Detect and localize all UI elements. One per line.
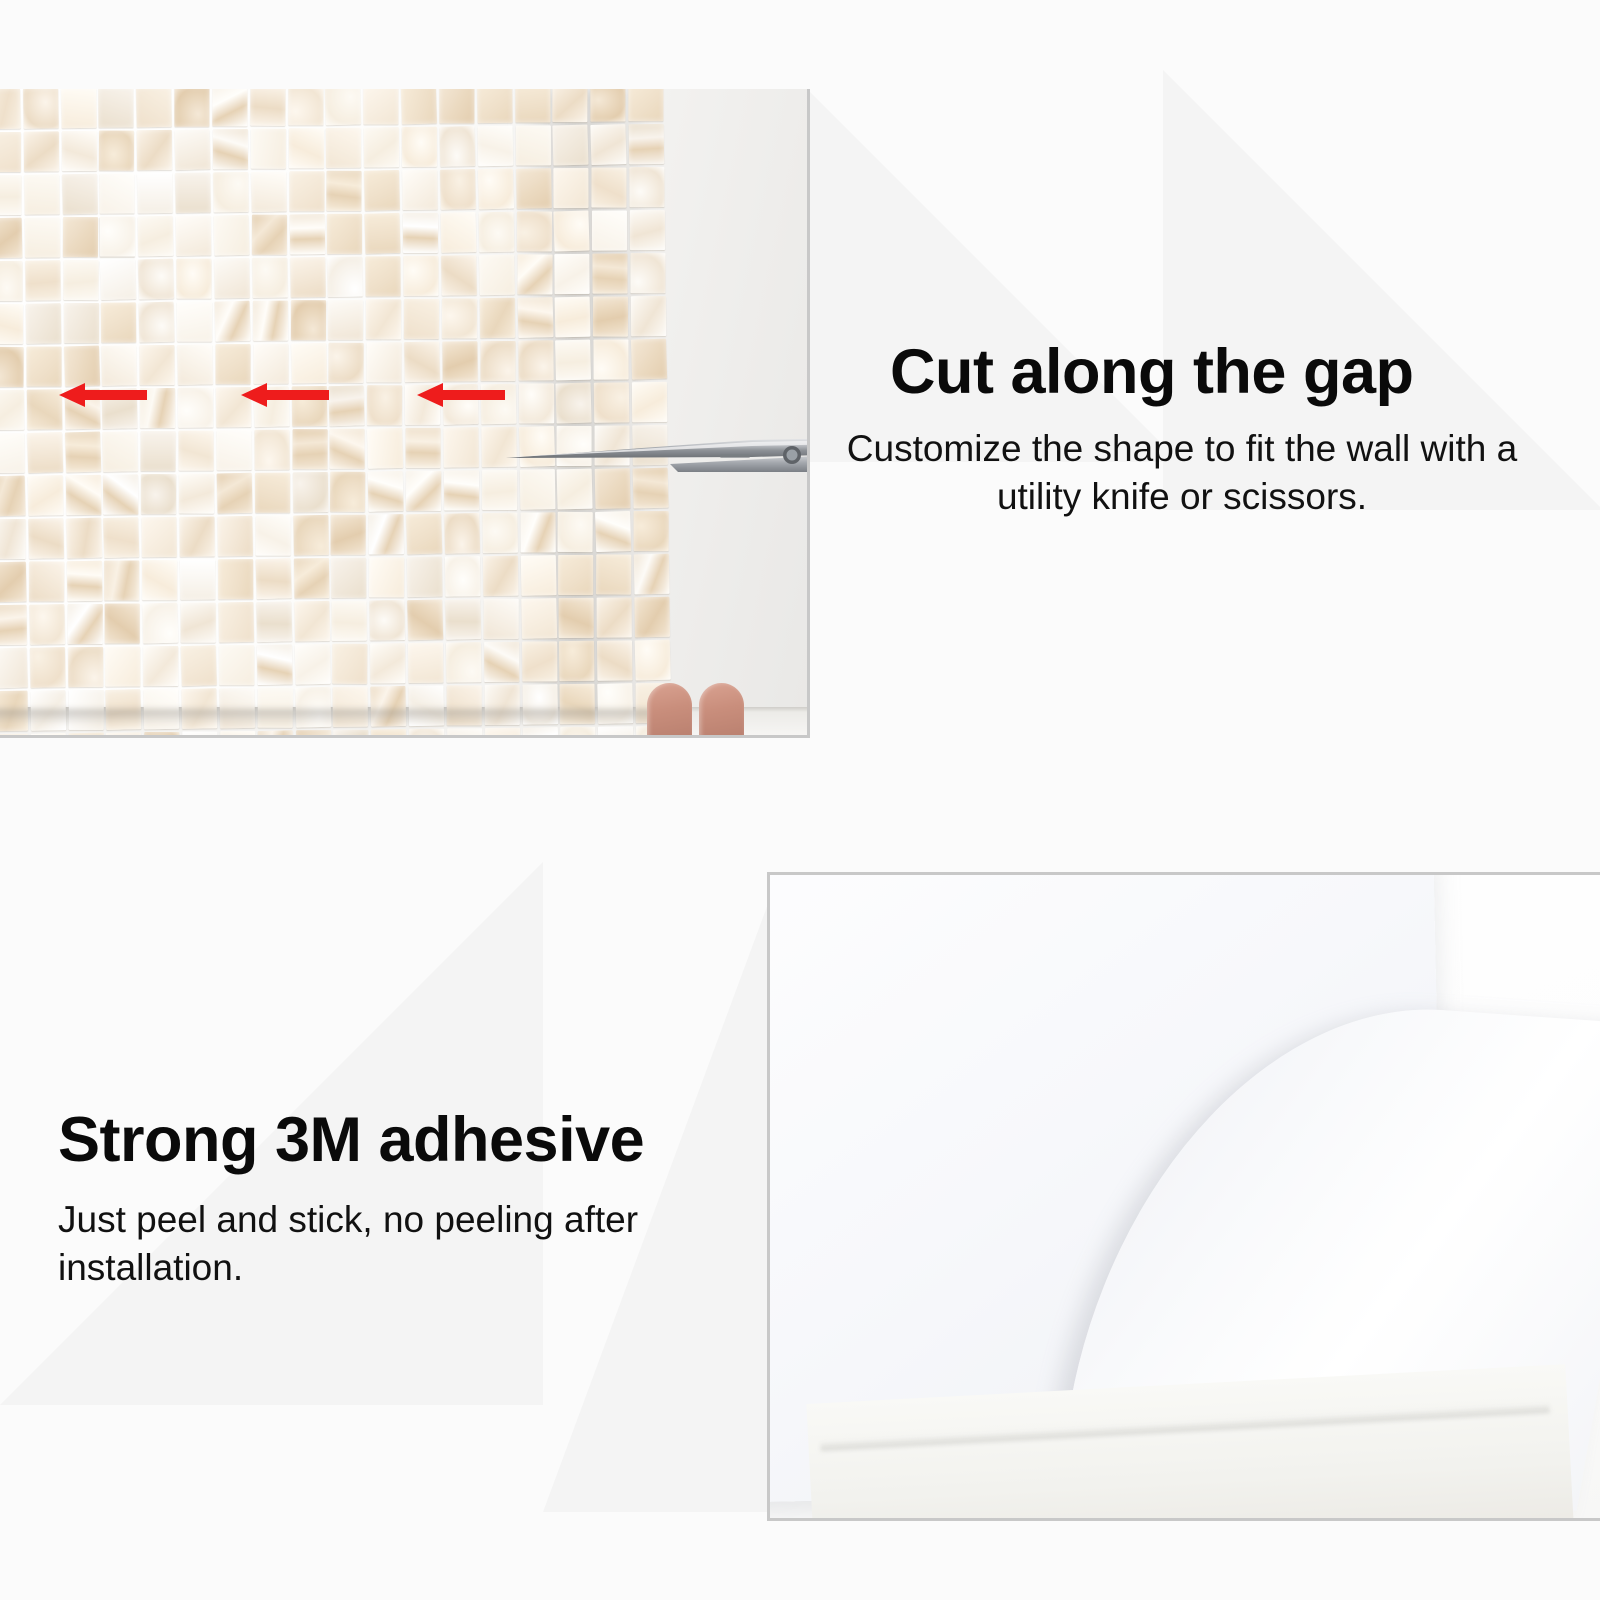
mosaic-tile	[214, 258, 249, 299]
mosaic-tile	[520, 555, 556, 596]
mosaic-tile	[368, 471, 404, 512]
mosaic-tile	[291, 343, 327, 384]
mosaic-tile	[408, 643, 443, 683]
mosaic-tile	[217, 473, 253, 514]
mosaic-tile	[28, 518, 64, 559]
mosaic-tile	[137, 130, 172, 170]
mosaic-tile	[444, 470, 479, 510]
mosaic-tile	[447, 728, 482, 738]
mosaic-tile	[442, 298, 477, 338]
mosaic-tile	[404, 256, 439, 296]
mosaic-tile	[629, 89, 664, 121]
mosaic-tile	[100, 174, 135, 214]
cut-direction-arrow-2	[241, 383, 329, 407]
infographic-canvas: Cut along the gap Customize the shape to…	[0, 0, 1600, 1600]
mosaic-tile	[445, 556, 480, 596]
mosaic-tile	[290, 257, 325, 297]
mosaic-tile	[629, 124, 664, 164]
mosaic-tile	[29, 561, 64, 601]
mosaic-tile	[101, 302, 136, 342]
mosaic-tile	[517, 254, 552, 294]
adhesive-section-title: Strong 3M adhesive	[58, 1104, 644, 1176]
mosaic-tile	[596, 554, 631, 594]
mosaic-tile	[440, 169, 476, 210]
mosaic-tile	[444, 513, 480, 554]
mosaic-tile	[258, 730, 294, 738]
mosaic-tile	[0, 734, 28, 738]
mosaic-tile	[632, 382, 667, 422]
adhesive-section-subtitle: Just peel and stick, no peeling after in…	[58, 1196, 678, 1292]
mosaic-tile	[631, 339, 667, 380]
mosaic-tile	[553, 125, 589, 166]
mosaic-tile	[179, 474, 214, 514]
mosaic-tile	[329, 343, 364, 383]
mosaic-tile	[65, 431, 101, 472]
mosaic-tile	[137, 173, 172, 214]
mosaic-tile	[292, 429, 327, 469]
mosaic-tile	[594, 339, 629, 379]
mosaic-tile	[214, 301, 250, 342]
mosaic-tile	[516, 168, 552, 209]
mosaic-tile	[365, 213, 401, 254]
mosaic-tile	[631, 296, 666, 336]
mosaic-tile	[138, 216, 174, 257]
mosaic-tile	[598, 726, 633, 738]
mosaic-tile	[371, 729, 407, 738]
mosaic-tile	[218, 559, 253, 599]
mosaic-tile	[631, 253, 666, 293]
mosaic-tile	[104, 517, 140, 558]
mosaic-tile	[520, 512, 555, 552]
cut-direction-arrow-1	[59, 383, 147, 407]
mosaic-tile	[255, 473, 290, 513]
mosaic-tile	[0, 390, 24, 430]
mosaic-tile	[401, 89, 437, 124]
mosaic-tile	[553, 89, 588, 122]
mosaic-tile	[554, 211, 590, 252]
mosaic-tile	[594, 382, 629, 422]
mosaic-tile	[213, 172, 248, 212]
mosaic-tile	[480, 341, 515, 381]
mosaic-tile	[105, 561, 140, 601]
mosaic-tile	[367, 342, 402, 382]
mosaic-tile	[409, 729, 444, 738]
mosaic-tile	[252, 257, 287, 297]
cut-direction-arrow-3	[417, 383, 505, 407]
mosaic-tile	[177, 344, 213, 385]
mosaic-tile	[0, 605, 27, 645]
mosaic-tile	[106, 732, 142, 738]
mosaic-tile	[330, 472, 365, 512]
mosaic-tile	[24, 174, 59, 214]
mosaic-tile	[559, 555, 594, 595]
mosaic-tile	[595, 511, 631, 552]
mosaic-tile	[634, 511, 669, 551]
mosaic-tile	[63, 217, 98, 257]
mosaic-tile	[219, 645, 254, 685]
mosaic-tile	[477, 89, 512, 123]
mosaic-tile	[367, 385, 402, 425]
mosaic-tile	[634, 554, 670, 595]
mosaic-tile	[0, 647, 28, 688]
mosaic-tile	[251, 171, 287, 212]
mosaic-tile	[66, 475, 101, 515]
mosaic-tile	[478, 212, 514, 253]
mosaic-tile	[485, 728, 520, 738]
mosaic-tile	[369, 514, 404, 554]
mosaic-tile	[522, 727, 558, 738]
mosaic-tile	[253, 344, 288, 384]
mosaic-tile	[0, 475, 26, 516]
mosaic-tile	[367, 428, 403, 469]
mosaic-tile	[440, 212, 476, 253]
mosaic-tile	[477, 126, 513, 167]
mosaic-tile	[144, 646, 179, 686]
mosaic-tile	[445, 599, 481, 640]
mosaic-tile	[332, 558, 367, 598]
mosaic-tile	[252, 215, 287, 255]
mosaic-tile	[630, 210, 665, 250]
fingers	[647, 671, 787, 738]
cut-section-title: Cut along the gap	[890, 336, 1413, 408]
mosaic-tile	[328, 257, 363, 297]
mosaic-tile	[407, 599, 443, 640]
mosaic-tile	[176, 215, 211, 256]
mosaic-tile	[484, 642, 519, 682]
mosaic-tile	[291, 300, 326, 340]
mosaic-tile	[559, 598, 594, 638]
mosaic-tile	[0, 218, 22, 259]
mosaic-tile	[175, 129, 211, 170]
mosaic-tile	[559, 641, 594, 681]
mosaic-tile	[404, 299, 439, 339]
mosaic-tile	[103, 431, 139, 472]
mosaic-tile	[103, 474, 138, 514]
mosaic-tile	[404, 342, 440, 383]
mosaic-tile	[325, 89, 361, 125]
mosaic-tile	[68, 733, 104, 738]
mosaic-tile	[180, 559, 215, 599]
mosaic-tile	[556, 340, 592, 381]
mosaic-tile	[68, 647, 103, 687]
mosaic-tile	[180, 516, 215, 556]
mosaic-tile	[102, 345, 138, 386]
mosaic-tile	[182, 732, 217, 738]
mosaic-tile	[483, 599, 518, 639]
mosaic-tile	[482, 513, 517, 553]
mosaic-tile	[67, 561, 103, 602]
mosaic-tile	[294, 558, 329, 598]
mosaic-tile	[515, 89, 550, 123]
mosaic-tile	[326, 128, 361, 168]
mosaic-tile	[364, 89, 399, 124]
mosaic-tile	[478, 168, 514, 209]
mosaic-tile	[364, 127, 399, 167]
mosaic-tile	[406, 471, 441, 511]
mosaic-tile	[254, 430, 289, 470]
mosaic-tile	[141, 431, 176, 471]
mosaic-tile	[25, 260, 60, 300]
mosaic-tile	[593, 296, 628, 336]
mosaic-tile	[0, 261, 22, 301]
mosaic-tile	[99, 130, 134, 170]
mosaic-tile	[521, 598, 557, 639]
mosaic-tile	[288, 89, 323, 125]
mosaic-tile	[220, 731, 255, 738]
mosaic-tile	[483, 556, 518, 596]
mosaic-tile	[443, 427, 478, 467]
mosaic-tile	[328, 300, 363, 340]
mosaic-tile	[250, 89, 285, 126]
mosaic-tile	[592, 211, 627, 251]
mosaic-tile	[67, 604, 102, 644]
mosaic-tile	[24, 131, 59, 171]
mosaic-tile	[213, 215, 249, 256]
mosaic-tile	[296, 730, 331, 738]
mosaic-tile	[31, 733, 67, 738]
mosaic-tile	[334, 730, 369, 738]
mosaic-tile	[402, 127, 437, 167]
mosaic-tile	[591, 124, 627, 165]
mosaic-tile	[517, 211, 552, 251]
mosaic-tile	[289, 171, 324, 211]
mosaic-tile	[216, 344, 251, 384]
mosaic-tile	[28, 475, 64, 516]
mosaic-tile	[593, 253, 628, 293]
mosaic-tile	[519, 383, 554, 423]
mosaic-tile	[555, 297, 591, 338]
mosaic-tile	[293, 472, 328, 512]
mosaic-tile	[327, 171, 362, 211]
mosaic-tile	[331, 515, 366, 555]
mosaic-tile	[30, 647, 65, 688]
mosaic-tile	[216, 430, 251, 470]
mosaic-tile	[213, 129, 248, 169]
mosaic-tile	[99, 89, 134, 128]
mosaic-tile	[100, 217, 135, 257]
mosaic-tile	[446, 642, 481, 682]
mosaic-tile	[255, 558, 291, 599]
mosaic-tile	[66, 517, 102, 558]
mosaic-tile	[0, 519, 26, 559]
mosaic-tile	[518, 340, 553, 380]
mosaic-tile	[522, 641, 557, 681]
mosaic-tile	[366, 299, 401, 339]
mosaic-tile	[329, 385, 365, 426]
mosaic-tile	[0, 132, 21, 172]
mosaic-tile	[177, 302, 212, 342]
mosaic-tile	[330, 429, 365, 469]
mosaic-tile	[178, 387, 213, 427]
mosaic-tile	[289, 214, 324, 254]
mosaic-tile	[106, 646, 141, 686]
mosaic-tile	[439, 89, 474, 123]
mosaic-tile	[142, 517, 177, 557]
mosaic-tile	[332, 601, 367, 641]
mosaic-tile	[0, 433, 25, 473]
mosaic-tile	[0, 89, 21, 129]
mosaic-tile	[100, 259, 136, 300]
mosaic-tile	[406, 513, 442, 554]
mosaic-tile	[64, 345, 100, 386]
mosaic-tile	[479, 255, 515, 296]
mosaic-tile	[63, 260, 98, 300]
photo-cut-along-gap	[0, 89, 810, 738]
mosaic-tile	[441, 255, 477, 296]
mosaic-tile	[139, 302, 175, 343]
mosaic-tile	[181, 603, 216, 643]
mosaic-tile	[105, 604, 140, 644]
mosaic-tile	[0, 347, 23, 387]
mosaic-tile	[257, 644, 293, 685]
mosaic-tile	[369, 557, 404, 597]
mosaic-tile	[591, 89, 626, 122]
mosaic-tile	[0, 175, 21, 215]
mosaic-tile	[179, 431, 214, 471]
mosaic-tile	[293, 515, 329, 556]
mosaic-tile	[256, 601, 292, 642]
mosaic-tile	[480, 298, 515, 338]
mosaic-tile	[555, 254, 590, 294]
mosaic-tile	[64, 303, 99, 343]
mosaic-tile	[407, 557, 443, 598]
mosaic-tile	[517, 297, 553, 338]
mosaic-tile	[175, 89, 210, 127]
photo-adhesive-backing	[767, 872, 1600, 1521]
mosaic-tile	[556, 383, 592, 424]
mosaic-tile	[27, 389, 62, 429]
mosaic-tile	[597, 640, 632, 680]
mosaic-tile	[364, 170, 400, 211]
mosaic-tile	[218, 602, 254, 643]
mosaic-tile	[403, 213, 438, 253]
mosaic-tile	[333, 644, 368, 684]
mosaic-tile	[175, 172, 211, 213]
mosaic-tile	[442, 341, 477, 381]
mosaic-tile	[143, 603, 179, 644]
mosaic-tile	[554, 168, 589, 208]
mosaic-tile	[289, 128, 324, 168]
mosaic-tile	[402, 170, 437, 210]
cut-section-subtitle: Customize the shape to fit the wall with…	[846, 425, 1518, 521]
mosaic-tile	[516, 125, 551, 165]
mosaic-tile	[561, 727, 596, 738]
mosaic-tile	[558, 512, 593, 552]
mosaic-tile	[61, 131, 96, 171]
mosaic-tile	[406, 428, 441, 468]
mosaic-tile	[634, 597, 669, 638]
mosaic-tile	[138, 259, 174, 300]
mosaic-tile	[145, 732, 180, 738]
mosaic-tile	[27, 432, 63, 473]
mosaic-tile	[136, 89, 172, 127]
mosaic-tile	[439, 126, 475, 167]
mosaic-tile	[61, 89, 96, 128]
mosaic-tile	[370, 643, 405, 683]
mosaic-tile	[370, 600, 405, 641]
mosaic-tile	[212, 89, 247, 126]
mosaic-tile	[29, 604, 65, 645]
mosaic-tile	[25, 217, 60, 257]
mosaic-tile	[592, 168, 627, 208]
mosaic-tile	[253, 301, 288, 341]
mosaic-tile	[0, 562, 26, 603]
mosaic-tile	[629, 167, 664, 207]
mosaic-tile	[143, 560, 178, 600]
mosaic-tile	[597, 597, 632, 637]
mosaic-tile	[181, 645, 217, 686]
mosaic-tile	[62, 174, 98, 215]
mosaic-tile	[327, 214, 362, 254]
scissors-icon	[502, 424, 810, 494]
mosaic-tile	[294, 601, 330, 642]
mosaic-tile	[251, 129, 286, 169]
mosaic-tile	[255, 516, 290, 556]
mosaic-tile	[0, 304, 23, 344]
mosaic-tile	[141, 474, 176, 514]
mosaic-tile	[26, 303, 61, 343]
mosaic-drop-shadow	[0, 709, 679, 725]
mosaic-tile	[140, 345, 175, 385]
mosaic-tile	[177, 259, 212, 299]
mosaic-tile	[366, 256, 401, 296]
mosaic-tile	[294, 644, 330, 685]
mosaic-tile	[26, 346, 61, 386]
mosaic-tile	[217, 516, 253, 557]
mosaic-tile	[23, 89, 58, 129]
